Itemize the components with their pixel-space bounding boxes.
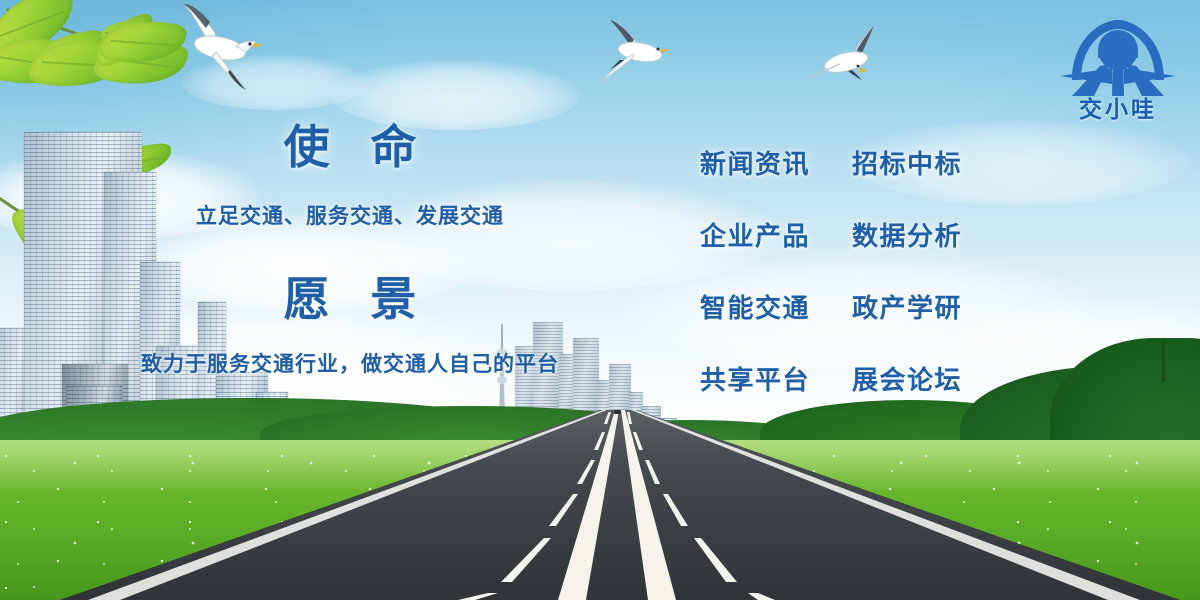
quick-link-bidding[interactable]: 招标中标 — [852, 151, 1004, 177]
site-logo[interactable]: 交小哇 — [1054, 14, 1182, 134]
quick-links-grid: 新闻资讯 招标中标 企业产品 数据分析 智能交通 政产学研 共享平台 展会论坛 — [700, 128, 1004, 416]
quick-link-sharing[interactable]: 共享平台 — [700, 367, 852, 393]
quick-link-research[interactable]: 政产学研 — [852, 295, 1004, 321]
bridge-arch-logo-icon — [1054, 14, 1182, 96]
mission-heading: 使 命 — [0, 124, 700, 170]
quick-link-news[interactable]: 新闻资讯 — [700, 151, 852, 177]
vision-block: 愿 景 致力于服务交通行业，做交通人自己的平台 — [0, 276, 700, 375]
quick-link-products[interactable]: 企业产品 — [700, 223, 852, 249]
content-layer: 使 命 立足交通、服务交通、发展交通 愿 景 致力于服务交通行业，做交通人自己的… — [0, 0, 1200, 600]
mission-tagline: 立足交通、服务交通、发展交通 — [0, 206, 700, 227]
hero-banner: 使 命 立足交通、服务交通、发展交通 愿 景 致力于服务交通行业，做交通人自己的… — [0, 0, 1200, 600]
vision-tagline: 致力于服务交通行业，做交通人自己的平台 — [0, 354, 700, 375]
quick-link-smart-transport[interactable]: 智能交通 — [700, 295, 852, 321]
quick-link-analytics[interactable]: 数据分析 — [852, 223, 1004, 249]
logo-wordmark: 交小哇 — [1054, 98, 1182, 121]
quick-link-expo-forum[interactable]: 展会论坛 — [852, 367, 1004, 393]
vision-heading: 愿 景 — [0, 276, 700, 322]
mission-block: 使 命 立足交通、服务交通、发展交通 — [0, 124, 700, 227]
